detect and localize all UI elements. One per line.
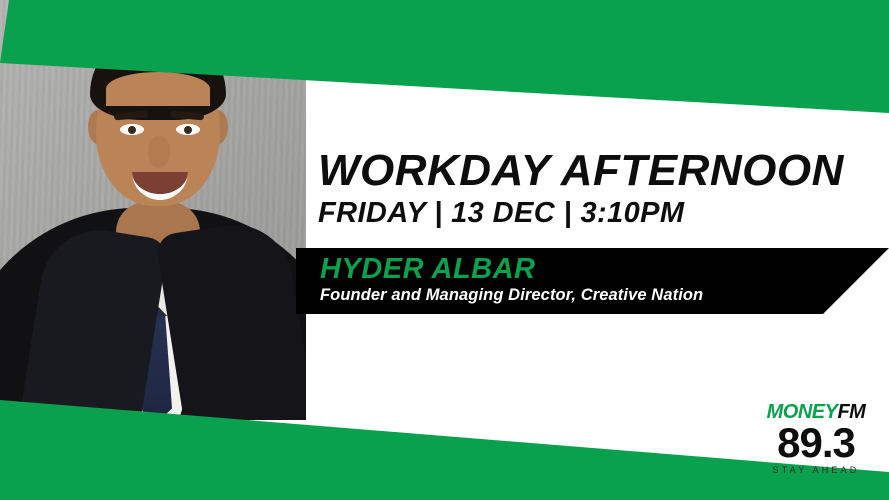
show-title-block: WORKDAY AFTERNOON FRIDAY | 13 DEC | 3:10… [318, 148, 878, 229]
logo-frequency: 89.3 [757, 422, 875, 464]
guest-name: HYDER ALBAR [320, 253, 535, 286]
show-title: WORKDAY AFTERNOON [318, 148, 878, 194]
show-schedule: FRIDAY | 13 DEC | 3:10PM [318, 198, 878, 229]
pupil-right [184, 126, 192, 134]
broadcast-promo-card: WORKDAY AFTERNOON FRIDAY | 13 DEC | 3:10… [0, 0, 889, 500]
logo-tagline: STAY AHEAD [757, 464, 875, 476]
pupil-left [128, 126, 136, 134]
station-logo: MONEYFM 89.3 STAY AHEAD [757, 402, 875, 480]
guest-name-banner: HYDER ALBAR Founder and Managing Directo… [296, 248, 889, 314]
nose [148, 136, 170, 168]
guest-role: Founder and Managing Director, Creative … [320, 286, 703, 305]
